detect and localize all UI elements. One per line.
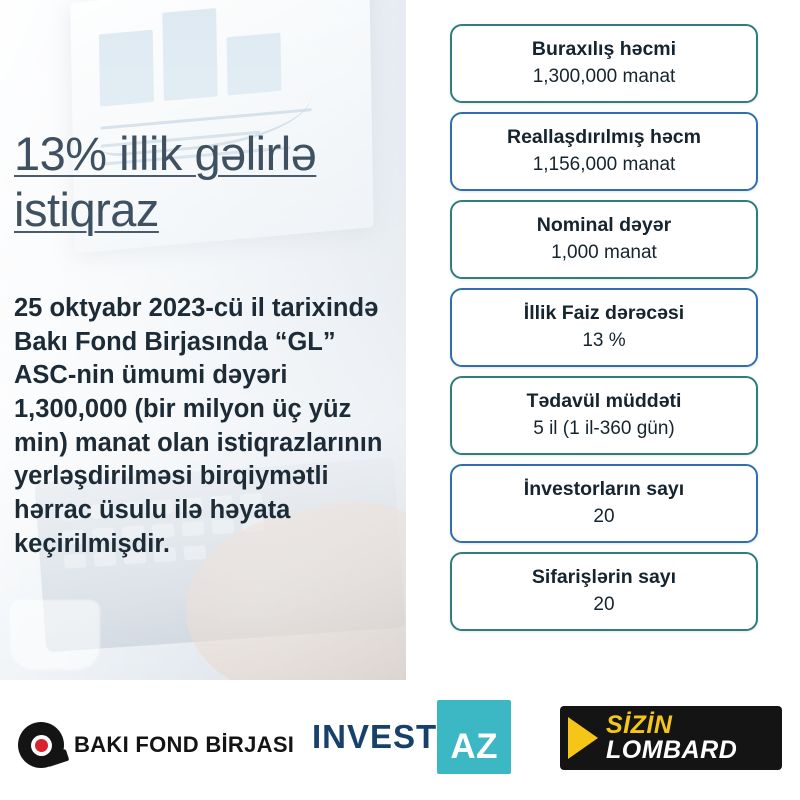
logo-invest-az: INVEST AZ: [312, 700, 511, 774]
invest-logo-text: INVEST: [312, 718, 437, 756]
fact-card-annual-rate: İllik Faiz dərəcəsi 13 %: [450, 288, 758, 367]
fact-card-title: Reallaşdırılmış həcm: [507, 127, 701, 148]
fact-card-order-count: Sifarişlərin sayı 20: [450, 552, 758, 631]
fact-card-realized-volume: Reallaşdırılmış həcm 1,156,000 manat: [450, 112, 758, 191]
fact-card-value: 1,300,000 manat: [533, 67, 676, 88]
fact-card-value: 1,156,000 manat: [533, 155, 676, 176]
fact-card-investor-count: İnvestorların sayı 20: [450, 464, 758, 543]
play-triangle-icon: [568, 717, 598, 759]
page-title: 13% illik gəlirlə istiqraz: [14, 130, 406, 234]
bfb-logo-text: BAKI FOND BİRJASI: [74, 732, 294, 758]
fact-card-title: Buraxılış həcmi: [532, 39, 676, 60]
fact-card-nominal-value: Nominal dəyər 1,000 manat: [450, 200, 758, 279]
fact-card-circulation-period: Tədavül müddəti 5 il (1 il-360 gün): [450, 376, 758, 455]
fact-card-value: 13 %: [582, 331, 625, 352]
fact-card-title: Sifarişlərin sayı: [532, 567, 676, 588]
fact-card-value: 20: [593, 595, 614, 616]
logo-sizin-lombard: SİZİN LOMBARD: [560, 706, 782, 770]
fact-card-title: Nominal dəyər: [537, 215, 671, 236]
headline-line-2: istiqraz: [14, 186, 406, 234]
fact-card-value: 5 il (1 il-360 gün): [533, 419, 675, 440]
fact-card-title: Tədavül müddəti: [527, 391, 682, 412]
lombard-line-2: LOMBARD: [606, 738, 737, 763]
invest-az-text: AZ: [450, 729, 498, 774]
fact-card-value: 20: [593, 507, 614, 528]
left-photo-panel: 13% illik gəlirlə istiqraz 25 oktyabr 20…: [0, 0, 406, 680]
bfb-circle-logo-icon: [18, 722, 64, 768]
fact-card-title: İnvestorların sayı: [524, 479, 684, 500]
body-paragraph: 25 oktyabr 2023-cü il tarixində Bakı Fon…: [14, 292, 404, 561]
fact-card-title: İllik Faiz dərəcəsi: [524, 303, 684, 324]
infographic-page: 13% illik gəlirlə istiqraz 25 oktyabr 20…: [0, 0, 800, 800]
headline-line-1: 13% illik gəlirlə: [14, 130, 406, 178]
lombard-line-1: SİZİN: [606, 713, 737, 738]
invest-az-box-icon: AZ: [437, 700, 511, 774]
fact-card-value: 1,000 manat: [551, 243, 657, 264]
logo-baki-fond-birjasi: BAKI FOND BİRJASI: [18, 722, 294, 768]
fact-card-list: Buraxılış həcmi 1,300,000 manat Reallaşd…: [450, 24, 758, 640]
fact-card-issue-volume: Buraxılış həcmi 1,300,000 manat: [450, 24, 758, 103]
